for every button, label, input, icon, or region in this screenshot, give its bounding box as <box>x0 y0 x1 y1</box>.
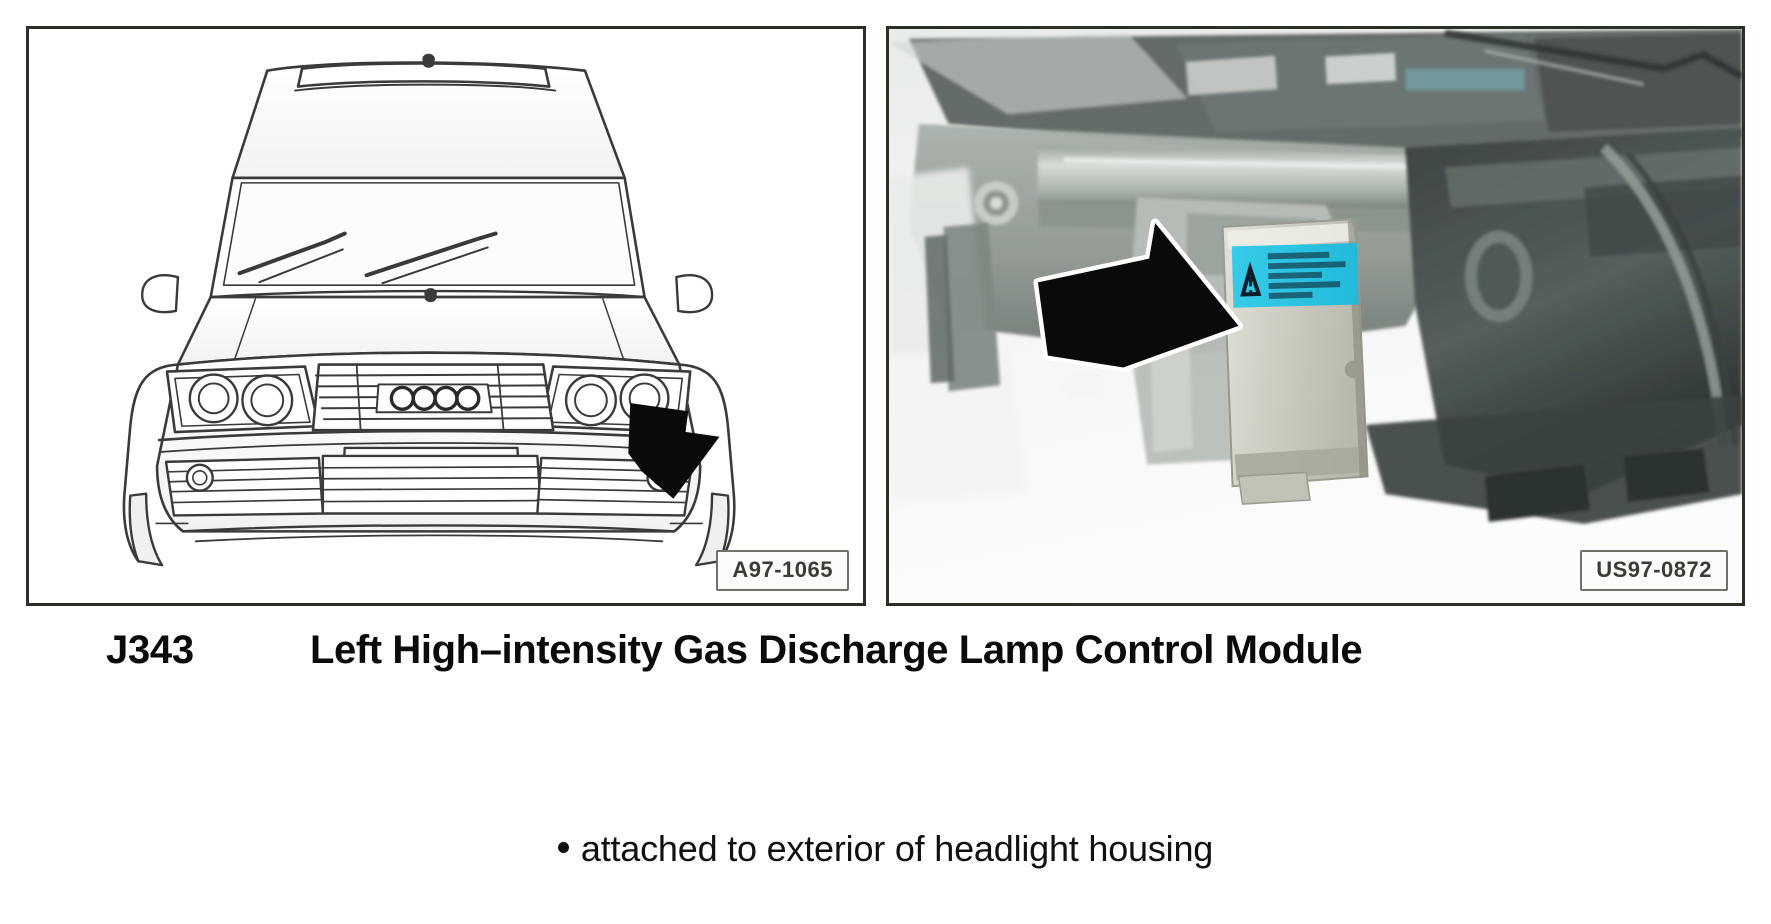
note-item: attached to exterior of headlight housin… <box>558 828 1213 870</box>
note-list: attached to exterior of headlight housin… <box>0 828 1771 870</box>
note-text: attached to exterior of headlight housin… <box>581 828 1213 869</box>
figure-panel-row: A97-1065 <box>26 26 1745 606</box>
component-code: J343 <box>106 628 194 673</box>
component-location-page: A97-1065 <box>0 0 1771 924</box>
photo-content <box>889 29 1742 603</box>
caption: J343 Left High–intensity Gas Discharge L… <box>0 628 1771 698</box>
panel-headlight-housing-photo: US97-0872 <box>886 26 1745 606</box>
headlight-housing-photograph <box>889 29 1742 603</box>
panel-vehicle-front-view: A97-1065 <box>26 26 866 606</box>
module-warning-label <box>1232 243 1359 308</box>
figure-code-right: US97-0872 <box>1580 550 1728 591</box>
vehicle-front-line-drawing <box>29 29 863 605</box>
bullet-icon <box>558 842 569 853</box>
control-module-body <box>1223 219 1368 504</box>
figure-code-left: A97-1065 <box>716 550 849 591</box>
component-name: Left High–intensity Gas Discharge Lamp C… <box>310 628 1362 673</box>
